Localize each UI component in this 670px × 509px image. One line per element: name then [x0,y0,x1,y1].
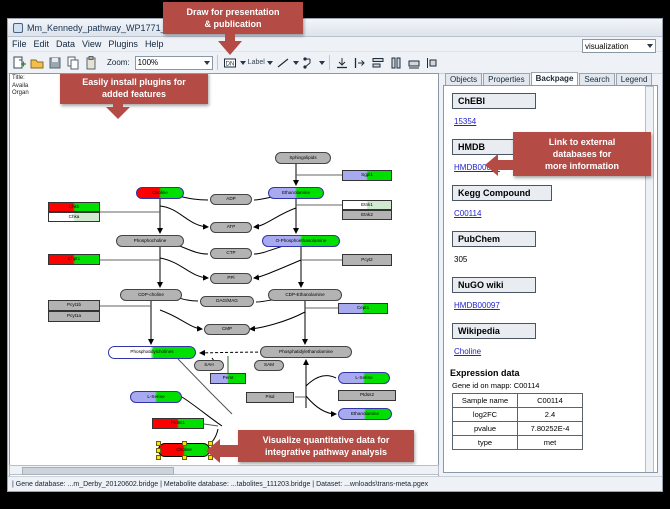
side-panel: Objects Properties Backpage Search Legen… [441,72,661,477]
node-label: Pcyt1a [67,314,81,319]
annotation-visualize-line2: integrative pathway analysis [245,446,407,458]
expression-table: Sample nameC00114log2FC2.4pvalue7.80252E… [452,393,583,450]
metabolite-node[interactable]: Sphingolipids [275,152,331,164]
metabolite-node[interactable]: DAG/MAG [200,296,254,307]
metabolite-node[interactable]: Ethanolamine [338,408,392,420]
scrollbar-thumb[interactable] [22,467,174,475]
line-chevron-down-icon[interactable] [293,61,299,65]
gene-node[interactable]: Pcyt2 [342,254,392,266]
metabolite-node[interactable]: Phosphocholine [116,235,184,247]
menu-help[interactable]: Help [145,39,164,49]
node-label: Ethanolamine [282,191,310,196]
metabolite-node[interactable]: Ethanolamine [268,187,324,199]
metabolite-node[interactable]: O-Phosphoethanolamine [262,235,340,247]
annotation-plugins-line2: added features [67,88,201,100]
node-label: CDP-Ethanolamine [285,293,324,298]
menu-data[interactable]: Data [56,39,75,49]
new-file-icon[interactable] [11,55,27,71]
node-label: Etnk2 [361,213,373,218]
zoom-combobox[interactable]: 100% [135,56,213,70]
selection-handle[interactable] [156,441,161,446]
tab-search[interactable]: Search [579,73,614,85]
selection-handle[interactable] [156,455,161,460]
visualization-value: visualization [585,42,629,51]
gene-node[interactable]: Etnk2 [342,210,392,220]
annotation-draw-line2: & publication [170,18,296,30]
node-label: CDP-choline [138,293,164,298]
metabolite-node[interactable]: CTP [210,248,252,259]
node-label: CMP [222,327,232,332]
metabolite-node[interactable]: ATP [210,222,252,233]
selection-handle[interactable] [156,448,161,453]
metabolite-node[interactable]: L-Serine [338,372,390,384]
menu-file[interactable]: File [12,39,27,49]
annotation-plugins-arrow [102,103,134,119]
side-panel-tabs: Objects Properties Backpage Search Legen… [445,72,661,85]
table-row: log2FC2.4 [453,408,583,422]
node-label: Sphingolipids [289,156,316,161]
annotation-draw: Draw for presentation & publication [163,2,303,34]
gene-node[interactable]: Chpt1 [48,254,100,265]
node-label: L-Serine [147,395,164,400]
node-label: Chkb [69,205,80,210]
annotation-visualize-line1: Visualize quantitative data for [245,434,407,446]
metabolite-node[interactable]: SAH [194,360,224,371]
node-label: DAG/MAG [216,299,238,304]
node-label: Phosphatidylethanolamine [279,350,333,355]
gene-id-line: Gene id on mapp: C00114 [452,381,657,390]
metabolite-node[interactable]: CDP-choline [120,289,182,301]
tab-backpage[interactable]: Backpage [531,72,579,85]
annotation-draw-arrow [214,33,246,55]
metabolite-node[interactable]: Choline [136,187,184,199]
node-label: SAM [264,363,274,368]
annotation-plugins: Easily install plugins for added feature… [60,73,208,104]
link-kegg[interactable]: C00114 [454,209,481,218]
label-chevron-down-icon[interactable] [267,61,273,65]
distribute-icon[interactable] [424,55,440,71]
metabolite-node[interactable]: Phosphatidylethanolamine [260,346,352,358]
gene-node[interactable]: Pemt [210,373,246,384]
annotation-links-line3: more information [520,160,644,172]
node-label: Ethanolamine [351,412,379,417]
section-header-nugo: NuGO wiki [452,277,536,293]
node-label: Pemt [223,376,234,381]
node-label: Pcyt1b [67,303,81,308]
annotation-links-arrow [485,152,517,178]
toolbar-separator-2 [329,55,330,70]
table-cell-key: type [453,436,518,450]
canvas-horizontal-scrollbar[interactable] [9,465,439,475]
node-label: L-Serine [355,376,372,381]
table-cell-value: 2.4 [518,408,583,422]
annotation-links: Link to external databases for more info… [513,132,651,176]
node-label: O-Phosphoethanolamine [276,239,327,244]
pathway-canvas[interactable]: Title: Availa Organ [9,73,439,477]
tab-objects[interactable]: Objects [445,73,482,85]
menu-bar: File Edit Data View Plugins Help [8,37,662,52]
table-row: Sample nameC00114 [453,394,583,408]
node-label: Phosphatidylcholines [130,350,173,355]
table-cell-value: met [518,436,583,450]
main-body: Title: Availa Organ [8,72,662,491]
expression-data-title: Expression data [450,368,657,378]
table-row: pvalue7.80252E-4 [453,422,583,436]
node-label: Chka [69,215,80,220]
visualization-chevron-down-icon [647,44,653,48]
paste-icon[interactable] [83,55,99,71]
table-cell-key: log2FC [453,408,518,422]
metabolite-node[interactable]: L-Serine [130,391,182,403]
section-header-wikipedia: Wikipedia [452,323,536,339]
status-bar: | Gene database: ...m_Derby_20120602.bri… [8,476,662,491]
node-label: ADP [226,197,235,202]
visualization-combobox[interactable]: visualization [582,39,656,53]
link-wikipedia[interactable]: Choline [454,347,481,356]
expression-table-body: Sample nameC00114log2FC2.4pvalue7.80252E… [453,394,583,450]
node-label: SAH [204,363,213,368]
tab-legend[interactable]: Legend [616,73,653,85]
title-bar: Mm_Kennedy_pathway_WP1771_45176.gpml [8,19,662,37]
node-label: Pcyt2 [361,258,373,263]
section-header-kegg: Kegg Compound [452,185,552,201]
gene-node[interactable]: Etnk1 [342,200,392,210]
section-header-chebi: ChEBI [452,93,536,109]
gene-node[interactable]: Chkb [48,202,100,212]
status-text: | Gene database: ...m_Derby_20120602.bri… [12,481,428,488]
selection-handle[interactable] [182,455,187,460]
metabolite-node[interactable]: ADP [210,194,252,205]
app-icon [12,22,23,33]
gene-node[interactable]: Pcyt1a [48,311,100,322]
metabolite-node[interactable]: PPi [210,273,252,284]
zoom-label: Zoom: [107,58,130,67]
node-label: Chpt1 [68,257,80,262]
chevron-down-icon [204,61,210,65]
table-row: typemet [453,436,583,450]
anchor-icon[interactable] [301,55,317,71]
node-label: Choline [152,191,168,196]
anchor-chevron-down-icon[interactable] [319,61,325,65]
node-label: CTP [226,251,235,256]
common-height-icon[interactable] [406,55,422,71]
application-window: Mm_Kennedy_pathway_WP1771_45176.gpml Fil… [7,18,663,492]
annotation-plugins-line1: Easily install plugins for [67,76,201,88]
node-label: PPi [227,276,234,281]
section-header-pubchem: PubChem [452,231,536,247]
node-label: ATP [227,225,236,230]
zoom-value: 100% [138,58,158,67]
node-label: Etnk1 [361,203,373,208]
align-left-icon[interactable] [352,55,368,71]
menu-plugins[interactable]: Plugins [108,39,138,49]
gene-node[interactable]: Ptdss2 [338,390,396,401]
metabolite-node[interactable]: CMP [204,324,250,335]
link-chebi[interactable]: 15354 [454,117,476,126]
annotation-links-line1: Link to external [520,136,644,148]
metabolite-node[interactable]: SAM [254,360,284,371]
save-icon[interactable] [47,55,63,71]
annotation-links-line2: databases for [520,148,644,160]
line-icon[interactable] [275,55,291,71]
table-cell-value: 7.80252E-4 [518,422,583,436]
node-label: Ptdss2 [360,393,374,398]
node-label: Ptdss1 [171,421,185,426]
node-label: Phosphocholine [134,239,167,244]
gene-node[interactable]: Cept1 [338,303,388,314]
align-top-icon[interactable] [334,55,350,71]
tool-bar: Zoom: 100% DN Label [8,52,662,74]
node-label: Cept1 [357,306,369,311]
table-cell-value: C00114 [518,394,583,408]
value-pubchem: 305 [454,255,467,264]
annotation-draw-line1: Draw for presentation [170,6,296,18]
node-label: Sgpl1 [361,173,373,178]
selection-handle[interactable] [182,441,187,446]
gene-node[interactable]: Pcyt1b [48,300,100,311]
svg-text:DN: DN [225,61,234,67]
gene-node[interactable]: Pisd [246,392,294,403]
gene-node[interactable]: Ptdss1 [152,418,204,429]
metabolite-node[interactable]: Phosphatidylcholines [108,346,196,359]
metabolite-node[interactable]: CDP-Ethanolamine [268,289,342,301]
table-cell-key: pvalue [453,422,518,436]
table-cell-key: Sample name [453,394,518,408]
datanode-chevron-down-icon[interactable] [240,61,246,65]
gene-node[interactable]: Sgpl1 [342,170,392,181]
annotation-visualize: Visualize quantitative data for integrat… [238,430,414,462]
tab-properties[interactable]: Properties [483,73,529,85]
align-stack-icon[interactable] [370,55,386,71]
menu-view[interactable]: View [82,39,101,49]
menu-edit[interactable]: Edit [34,39,50,49]
node-label: Pisd [266,395,275,400]
link-nugo[interactable]: HMDB00097 [454,301,500,310]
gene-node[interactable]: Chka [48,212,100,222]
annotation-visualize-arrow [206,437,242,465]
label-tool-label[interactable]: Label [248,59,265,66]
open-folder-icon[interactable] [29,55,45,71]
toolbar-separator [217,55,218,70]
common-width-icon[interactable] [388,55,404,71]
copy-icon[interactable] [65,55,81,71]
node-label: Choline [176,448,192,453]
datanode-icon[interactable]: DN [222,55,238,71]
